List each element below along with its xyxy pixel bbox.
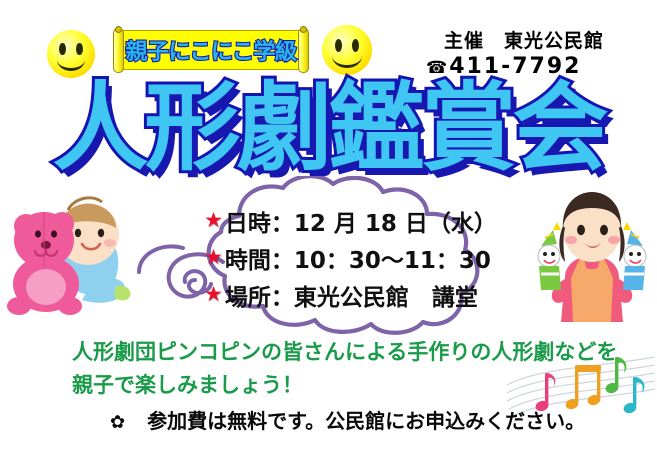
detail-row-time: ★ 時間：10：30〜11：30 (204, 239, 504, 276)
detail-text-date: 日時：12 月 18 日（水） (225, 204, 497, 238)
free-admission-note: ✿参加費は無料です。公民館にお申込みください。 (110, 405, 630, 434)
star-icon: ★ (204, 210, 223, 231)
free-admission-note-text: 参加費は無料です。公民館にお申込みください。 (147, 409, 585, 433)
organizer-label: 主催 東光公民館 (426, 26, 641, 53)
woman-with-hand-puppets-illustration (527, 186, 657, 326)
detail-text-venue: 場所：東光公民館 講堂 (225, 278, 478, 312)
event-details: ★ 日時：12 月 18 日（水） ★ 時間：10：30〜11：30 ★ 場所：… (204, 202, 504, 313)
baby-with-teddy-bear-illustration (4, 188, 136, 323)
detail-text-time: 時間：10：30〜11：30 (225, 241, 491, 275)
page-title: 人形劇鑑賞会 (0, 78, 657, 178)
detail-row-date: ★ 日時：12 月 18 日（水） (204, 202, 504, 239)
smiley-face-left-icon (47, 30, 95, 78)
smiley-face-right-icon (322, 25, 372, 75)
poster-canvas: 親子にこにこ学級 主催 東光公民館 ☎411-7792 人形劇鑑賞会 ★ 日時：… (0, 0, 657, 464)
banner-label: 親子にこにこ学級 (121, 30, 301, 70)
star-icon: ★ (204, 284, 223, 305)
star-icon: ★ (204, 247, 223, 268)
detail-row-venue: ★ 場所：東光公民館 講堂 (204, 276, 504, 313)
banner-knob-right (300, 26, 307, 33)
course-name-banner: 親子にこにこ学級 (112, 30, 310, 70)
flower-icon: ✿ (110, 412, 125, 433)
